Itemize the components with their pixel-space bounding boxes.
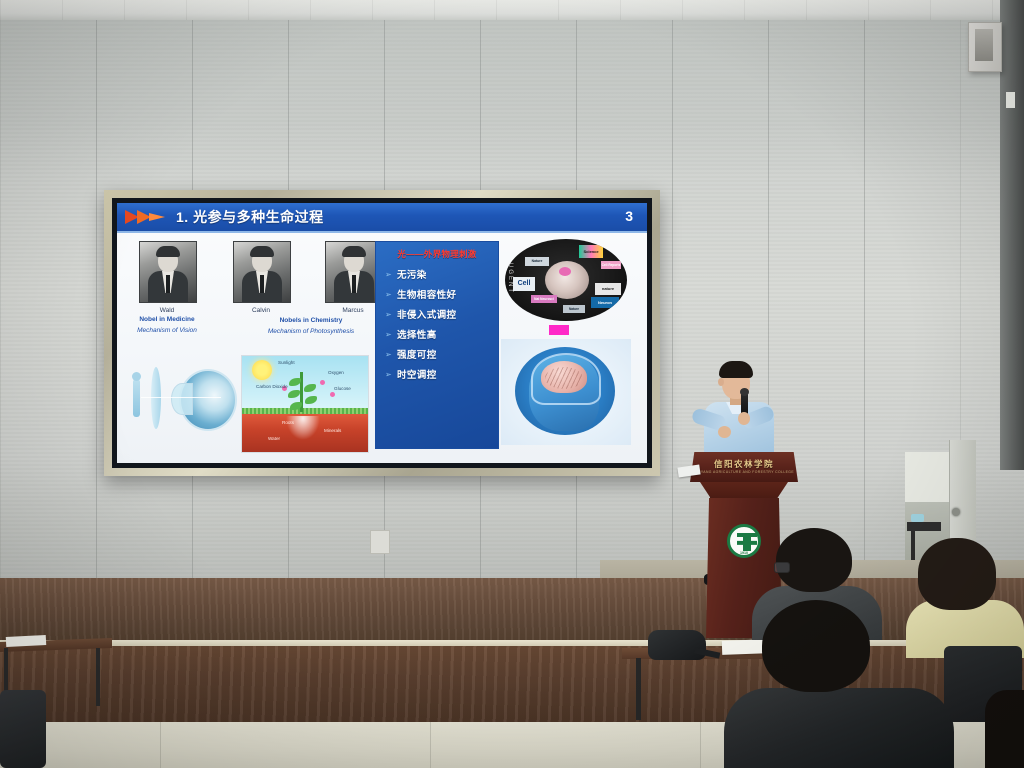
- podium-institution-name: 信阳农林学院: [690, 458, 798, 470]
- projected-slide: 1. 光参与多种生命过程 3 Wald Nobel in Medicine Me…: [117, 203, 647, 463]
- lecture-hall-photo: 1. 光参与多种生命过程 3 Wald Nobel in Medicine Me…: [0, 0, 1024, 768]
- portrait-name: Wald: [139, 307, 195, 314]
- ceiling: [0, 0, 1024, 22]
- journal-cover-nature-protocols: Nature Protocols: [563, 305, 585, 313]
- wall-top-shading: [0, 20, 1024, 180]
- right-corner-shadow: [1000, 0, 1024, 470]
- wall-outlet: [370, 530, 390, 554]
- eye-lens-icon: [151, 367, 161, 429]
- chemistry-nobels-caption: Nobels in Chemistry Mechanism of Photosy…: [231, 315, 391, 337]
- journal-cover-nature-methods: Nature Methods: [525, 257, 549, 266]
- arrow-bullet-icon: ➢: [385, 350, 397, 359]
- human-brain-head-illustration: [501, 339, 631, 445]
- arrow-bullet-icon: ➢: [385, 370, 397, 379]
- label-carbon-dioxide: Carbon Dioxide: [256, 384, 280, 390]
- bullet-item: ➢ 非侵入式调控: [385, 307, 493, 321]
- daylight-patch: [905, 452, 951, 502]
- light-stimulus-bullet-panel: 光——外界物理刺激 ➢ 无污染 ➢ 生物相容性好 ➢ 非侵入式调控 ➢ 选择性高…: [375, 241, 499, 449]
- middle-desk-leg: [636, 658, 641, 720]
- molecule-icon: [330, 392, 335, 397]
- audience-head: [762, 600, 870, 692]
- black-bag: [648, 630, 706, 660]
- wall-switch-plate: [1006, 92, 1015, 108]
- floor-tile-line: [160, 722, 161, 768]
- speaker-ear: [718, 378, 724, 386]
- bullet-text: 非侵入式调控: [397, 307, 456, 321]
- portrait-name: Calvin: [233, 307, 289, 314]
- journal-covers-collage: UGENT Cell nature Neuron Science Nature …: [505, 239, 627, 321]
- journal-cover-science: Science: [579, 245, 603, 258]
- bullet-text: 生物相容性好: [397, 287, 456, 301]
- arrow-bullet-icon: ➢: [385, 330, 397, 339]
- sun-icon: [252, 360, 272, 380]
- portrait-field: Mechanism of Vision: [122, 327, 212, 336]
- eye-object-icon: [133, 379, 140, 417]
- bullet-panel-heading: 光——外界物理刺激: [381, 248, 493, 260]
- arrow-bullet-icon: ➢: [385, 310, 397, 319]
- left-desk-leg: [96, 648, 100, 706]
- bullet-item: ➢ 选择性高: [385, 327, 493, 341]
- paper-sheets: [6, 635, 46, 647]
- side-table: [907, 522, 941, 531]
- label-roots: Roots: [282, 420, 294, 425]
- slide-title-underline: [117, 231, 647, 233]
- glasses-icon: [774, 562, 790, 573]
- portrait-photo: [233, 241, 291, 303]
- podium-institution-pinyin: XINYANG AGRICULTURE AND FORESTRY COLLEGE: [690, 470, 798, 474]
- door-knob: [952, 508, 960, 516]
- label-sunlight: Sunlight: [278, 360, 295, 365]
- portrait-wald: Wald Nobel in Medicine Mechanism of Visi…: [139, 241, 195, 336]
- arrow-bullet-icon: ➢: [385, 290, 397, 299]
- journal-cover-nature: nature: [595, 283, 621, 295]
- blue-object: [911, 514, 924, 522]
- magenta-marker: [549, 325, 569, 335]
- podium-neck: [700, 482, 788, 498]
- molecule-icon: [320, 380, 325, 385]
- floor-tile-line: [430, 722, 431, 768]
- audience-member-far-right: [985, 690, 1024, 768]
- slide-title-bar: 1. 光参与多种生命过程 3: [117, 203, 647, 231]
- light-ray: [141, 397, 221, 398]
- bullet-text: 无污染: [397, 267, 427, 281]
- chemistry-field: Mechanism of Photosynthesis: [231, 328, 391, 337]
- bullet-item: ➢ 无污染: [385, 267, 493, 281]
- portrait-marcus: Marcus: [325, 241, 381, 314]
- skull-outline: [531, 353, 601, 405]
- portrait-name: Marcus: [325, 307, 381, 314]
- mouse-photo: [545, 261, 589, 299]
- bullet-text: 选择性高: [397, 327, 437, 341]
- journal-cover-neuron: Neuron: [591, 297, 619, 308]
- bullet-item: ➢ 时空调控: [385, 367, 493, 381]
- nobel-portraits-group: Wald Nobel in Medicine Mechanism of Visi…: [139, 241, 389, 349]
- journal-cover-cell: Cell: [513, 277, 535, 291]
- portrait-photo: [139, 241, 197, 303]
- bullet-item: ➢ 生物相容性好: [385, 287, 493, 301]
- portrait-calvin: Calvin: [233, 241, 289, 314]
- journal-cover-nat-neurosci: Nat Neurosci: [531, 295, 557, 303]
- audience-member-front-center: [724, 600, 954, 768]
- portrait-award: Nobel in Medicine: [124, 316, 210, 325]
- wall-seam: [672, 20, 673, 580]
- label-glucose: Glucose: [334, 386, 351, 391]
- bullet-text: 强度可控: [397, 347, 437, 361]
- label-minerals: Minerals: [324, 428, 341, 433]
- audience-body: [724, 688, 954, 768]
- photosynthesis-diagram: Sunlight Oxygen Carbon Dioxide Glucose R…: [241, 355, 369, 453]
- wall-speaker-icon: [968, 22, 1002, 72]
- slide-page-number: 3: [625, 208, 633, 224]
- bullet-text: 时空调控: [397, 367, 437, 381]
- speaker-left-hand: [718, 426, 731, 438]
- eye-optics-diagram: [127, 355, 237, 447]
- arrow-bullet-icon: ➢: [385, 270, 397, 279]
- double-chevron-icon: [125, 208, 167, 226]
- floor-tile-line: [700, 722, 701, 768]
- chemistry-award: Nobels in Chemistry: [231, 317, 391, 326]
- audience-chair: [0, 690, 46, 768]
- label-water: Water: [268, 436, 280, 441]
- journal-cover-cell-reports: Cell Reports: [601, 261, 621, 269]
- speaker-right-hand: [738, 412, 750, 425]
- label-oxygen: Oxygen: [328, 370, 344, 375]
- bullet-item: ➢ 强度可控: [385, 347, 493, 361]
- speaker-hair: [719, 361, 753, 378]
- audience-head: [776, 528, 852, 592]
- slide-title: 1. 光参与多种生命过程: [176, 207, 324, 227]
- wall-seam: [96, 20, 97, 580]
- cornea-icon: [171, 383, 193, 415]
- wall-seam: [864, 20, 865, 580]
